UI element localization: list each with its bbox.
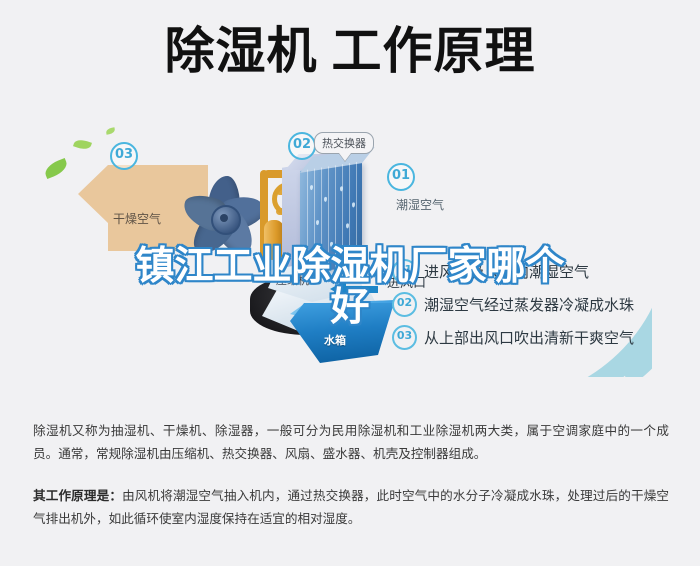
compressor-label: 压缩机	[276, 272, 309, 288]
water-tank-label: 水箱	[324, 332, 346, 348]
body-paragraph-2: 其工作原理是：由风机将潮湿空气抽入机内，通过热交换器，此时空气中的水分子冷凝成水…	[33, 484, 669, 530]
step-text: 潮湿空气经过蒸发器冷凝成水珠	[424, 294, 634, 315]
humid-air-label: 潮湿空气	[396, 196, 444, 213]
step-badge: 03	[392, 325, 417, 350]
intake-arrow-bar-icon	[344, 286, 378, 293]
fan-icon	[178, 172, 270, 264]
dry-air-label: 干燥空气	[113, 210, 161, 227]
body-paragraph-1: 除湿机又称为抽湿机、干燥机、除湿器，一般可分为民用除湿机和工业除湿机两大类，属于…	[33, 419, 669, 465]
step-badge: 01	[392, 259, 417, 284]
list-item: 03 从上部出风口吹出清新干爽空气	[392, 321, 692, 354]
badge-02: 02	[288, 132, 316, 160]
badge-01: 01	[387, 163, 415, 191]
body-paragraph-2-label: 其工作原理是：	[33, 488, 122, 503]
title-text: 除湿机工作原理	[165, 26, 536, 76]
heat-exchanger-callout: 热交换器	[314, 132, 374, 154]
evaporator-fins-icon	[300, 161, 362, 275]
body-paragraph-2-text: 由风机将潮湿空气抽入机内，通过热交换器，此时空气中的水分子冷凝成水珠，处理过后的…	[33, 488, 669, 526]
steps-list: 01 进风口吸入室内潮湿空气 02 潮湿空气经过蒸发器冷凝成水珠 03 从上部出…	[392, 255, 692, 354]
step-badge: 02	[392, 292, 417, 317]
page-title: 除湿机工作原理	[0, 26, 700, 76]
page-root: 除湿机工作原理 干燥空气	[0, 0, 700, 566]
leaf-icon	[73, 138, 92, 152]
title-part-1: 除湿机	[165, 22, 318, 80]
title-part-2: 工作原理	[332, 22, 536, 80]
step-text: 进风口吸入室内潮湿空气	[424, 261, 589, 282]
leaf-icon	[42, 158, 69, 179]
list-item: 02 潮湿空气经过蒸发器冷凝成水珠	[392, 288, 692, 321]
badge-03: 03	[110, 142, 138, 170]
step-text: 从上部出风口吹出清新干爽空气	[424, 327, 634, 348]
leaf-icon	[106, 127, 116, 134]
list-item: 01 进风口吸入室内潮湿空气	[392, 255, 692, 288]
